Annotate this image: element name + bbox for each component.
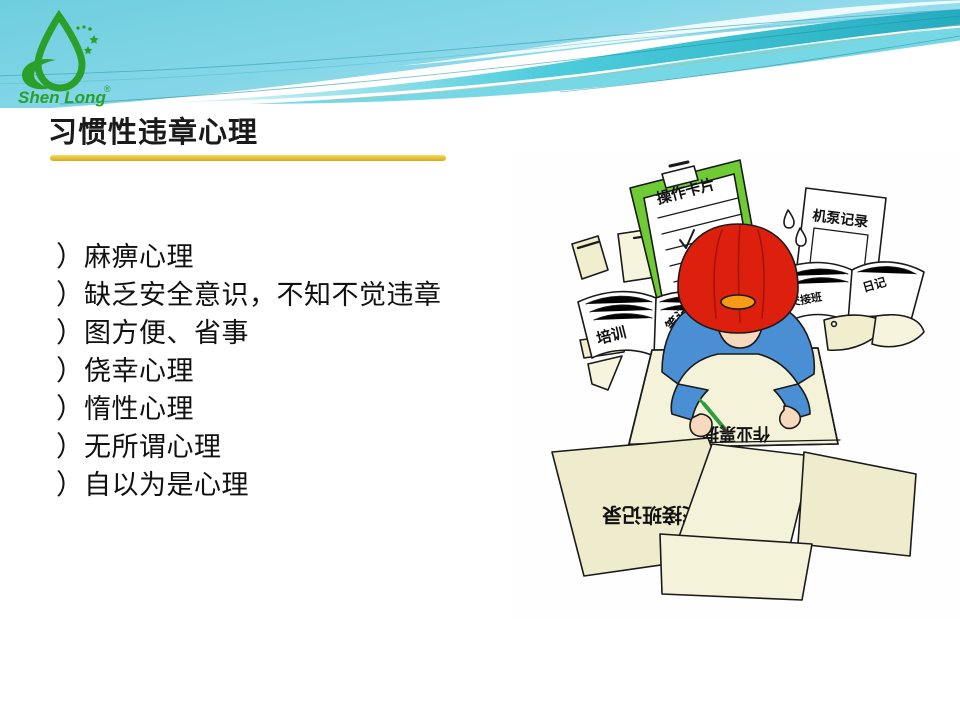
- droplet-leaf-icon: [22, 16, 99, 89]
- logo-wordmark: Shen Long: [18, 88, 106, 107]
- bullet-marker-icon: ）: [56, 239, 84, 277]
- list-item-label: 侥幸心理: [84, 352, 194, 390]
- list-item-label: 缺乏安全意识，不知不觉违章: [84, 276, 442, 314]
- bullet-marker-icon: ）: [56, 353, 84, 391]
- list-item-label: 自以为是心理: [84, 466, 249, 504]
- registered-mark: ®: [104, 84, 111, 94]
- bullet-marker-icon: ）: [56, 277, 84, 315]
- list-item: ） 麻痹心理: [56, 238, 526, 276]
- list-item-label: 无所谓心理: [84, 428, 222, 466]
- list-item: ） 无所谓心理: [56, 428, 526, 466]
- bottom-paper-front: [660, 534, 812, 600]
- bullet-marker-icon: ）: [56, 429, 84, 467]
- list-item-label: 惰性心理: [84, 390, 194, 428]
- title-block: 习惯性违章心理: [48, 116, 508, 161]
- title-underline-rule: [50, 155, 446, 161]
- page-title: 习惯性违章心理: [48, 116, 508, 150]
- list-item: ） 缺乏安全意识，不知不觉违章: [56, 276, 526, 314]
- bullet-marker-icon: ）: [56, 315, 84, 353]
- bullet-marker-icon: ）: [56, 391, 84, 429]
- list-item-label: 麻痹心理: [84, 238, 194, 276]
- list-item: ） 自以为是心理: [56, 466, 526, 504]
- shen-long-logo: Shen Long ®: [12, 10, 120, 108]
- illustration-worker-paperwork: 操作卡片 培训 笔记 机泵记录: [512, 152, 960, 618]
- decorative-wave-banner: [0, 0, 960, 108]
- list-item: ） 图方便、省事: [56, 314, 526, 352]
- slide-root: Shen Long ® 习惯性违章心理 ） 麻痹心理 ） 缺乏安全意识，不知不觉…: [0, 0, 960, 720]
- list-item: ） 惰性心理: [56, 390, 526, 428]
- bullet-list: ） 麻痹心理 ） 缺乏安全意识，不知不觉违章 ） 图方便、省事 ） 侥幸心理 ）…: [56, 238, 526, 504]
- list-item: ） 侥幸心理: [56, 352, 526, 390]
- bullet-marker-icon: ）: [56, 467, 84, 505]
- list-item-label: 图方便、省事: [84, 314, 249, 352]
